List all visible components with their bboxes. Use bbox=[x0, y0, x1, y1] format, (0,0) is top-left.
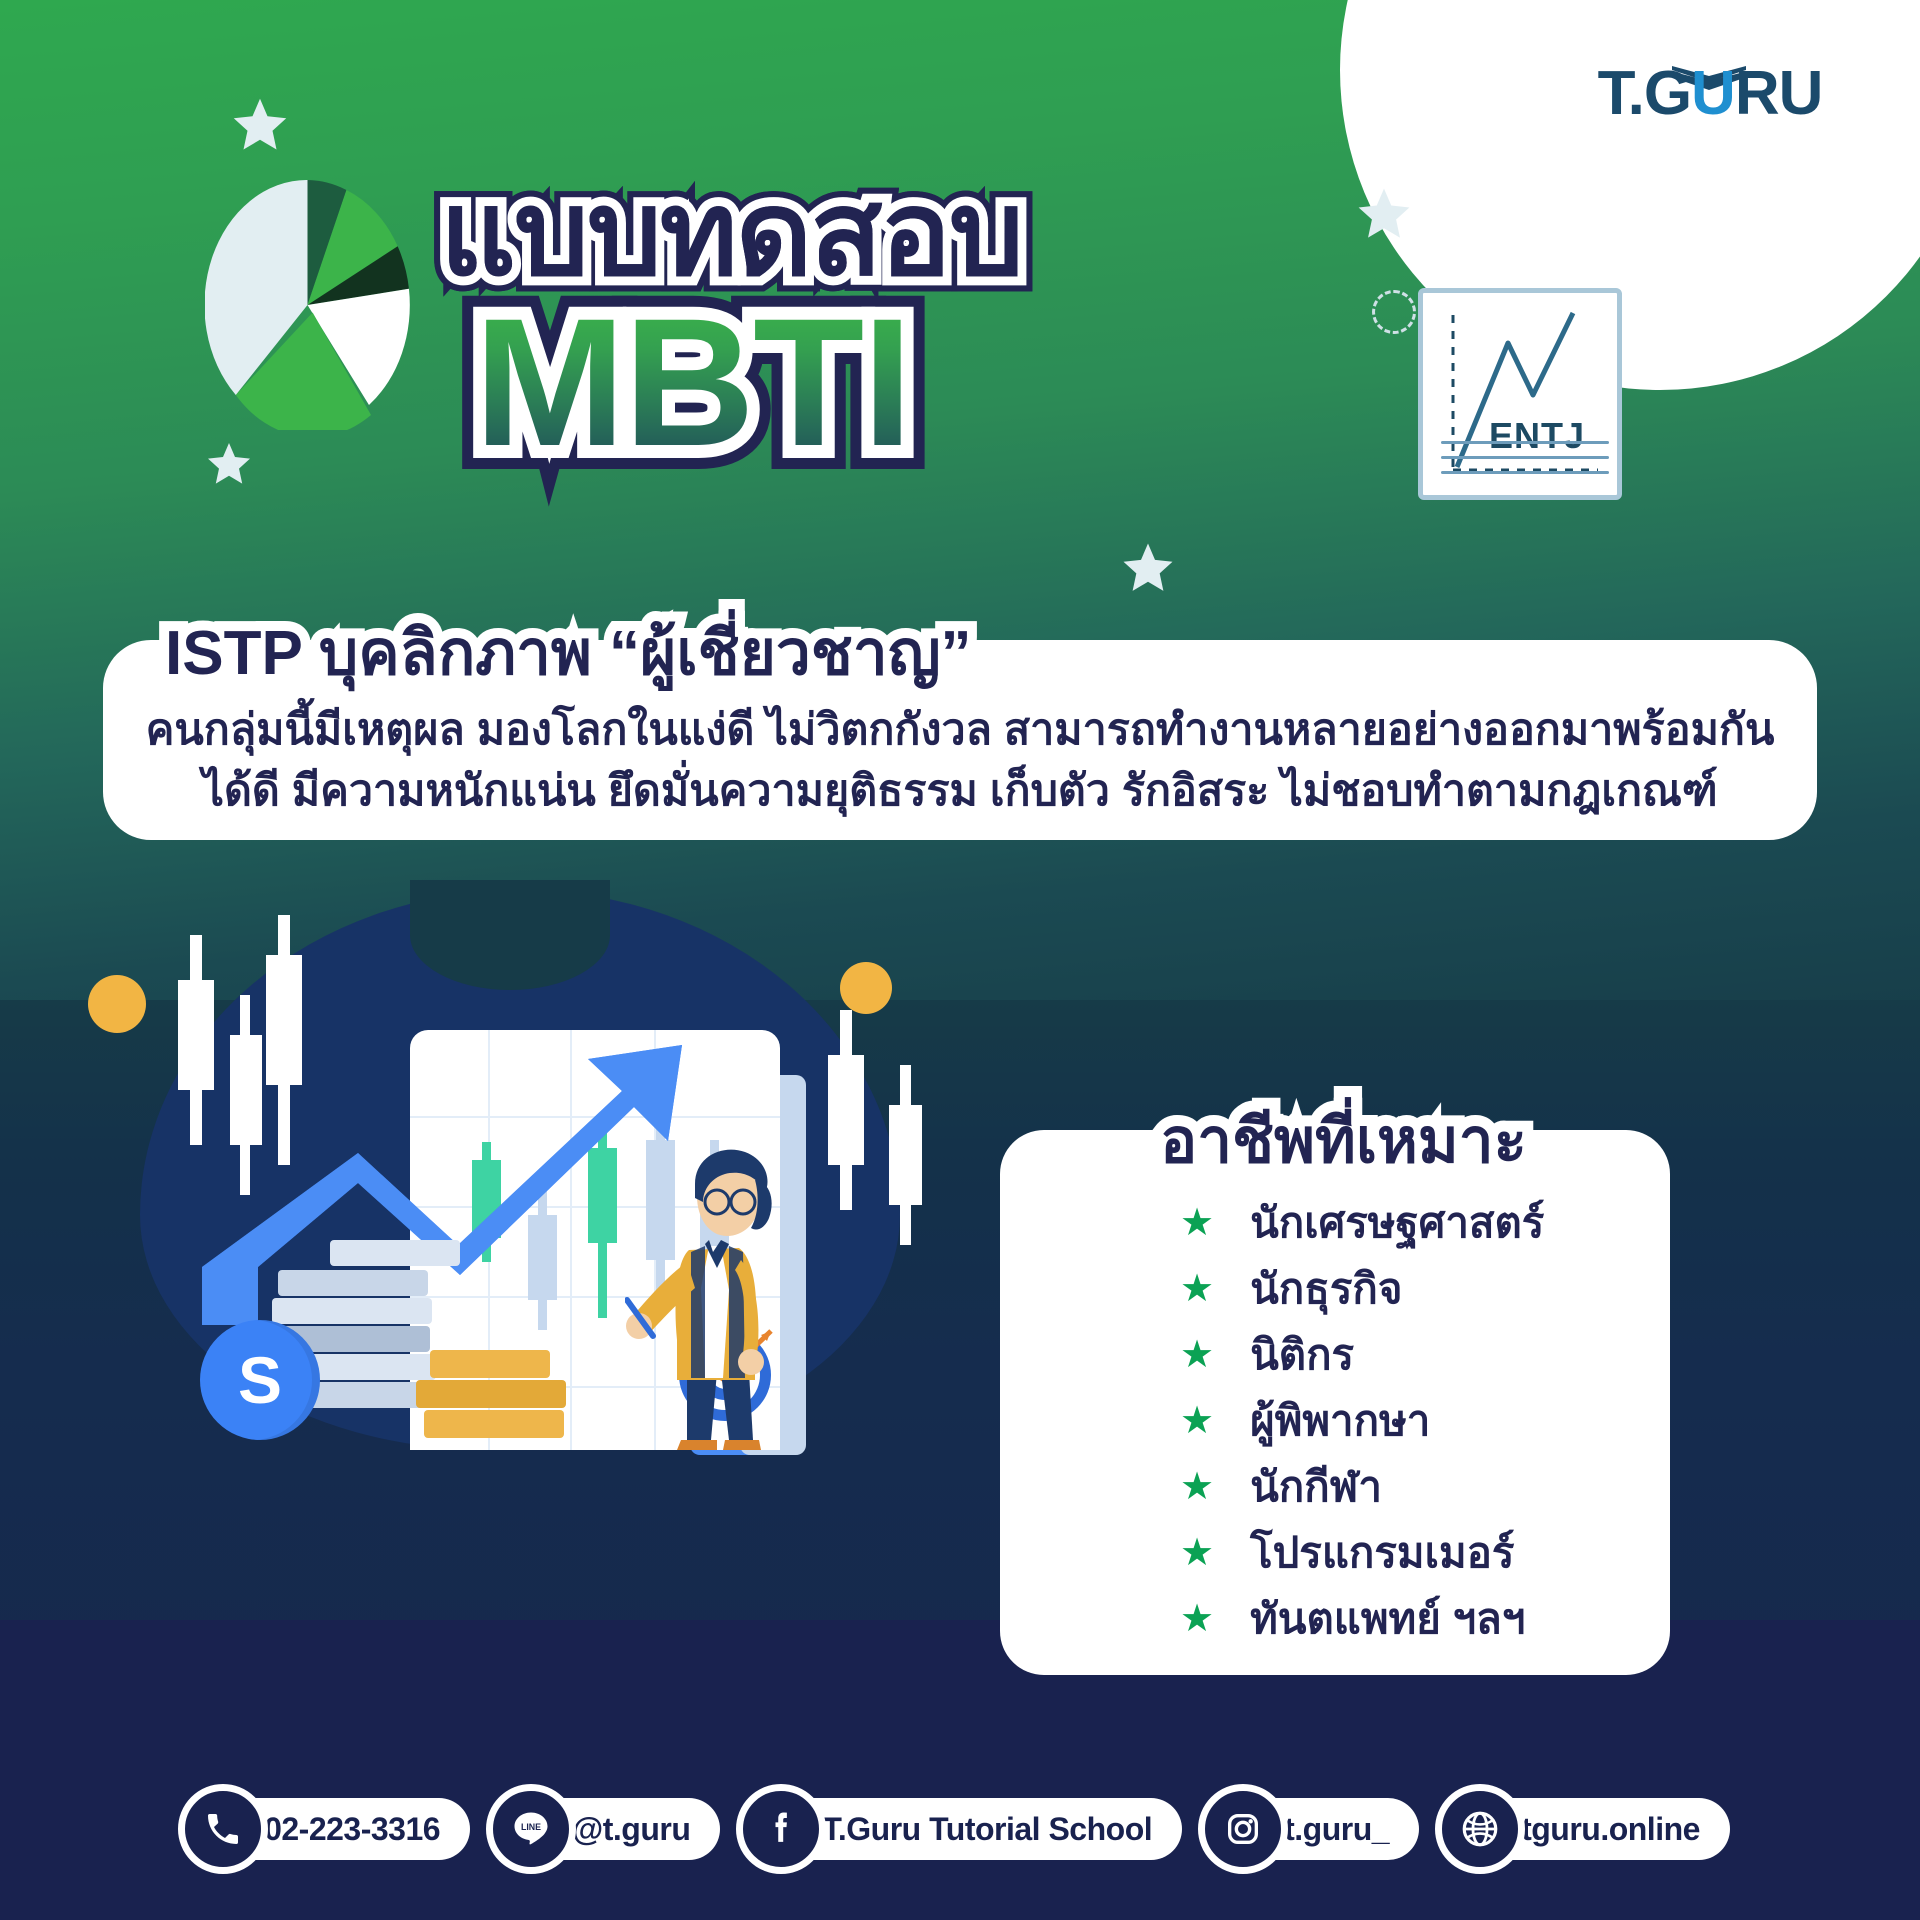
page-title: แบบทดสอบ แบบทดสอบ แบบทดสอบ MBTI MBTI MBT… bbox=[440, 175, 1160, 466]
contact-website-text: tguru.online bbox=[1521, 1811, 1700, 1848]
pie-chart-decoration bbox=[205, 180, 410, 430]
poster-canvas: T.GURU แบบทดสอบ แบบทดสอบ แบบทดสอบ MBTI M… bbox=[0, 0, 1920, 1920]
blob-notch bbox=[410, 880, 610, 990]
business-illustration: S bbox=[80, 880, 960, 1500]
star-icon: ★ bbox=[1180, 1468, 1214, 1506]
list-item: ★ นักกีฬา bbox=[1180, 1454, 1650, 1520]
contact-phone[interactable]: 02-223-3316 bbox=[190, 1798, 470, 1860]
contact-line[interactable]: LINE @t.guru bbox=[498, 1798, 720, 1860]
contact-line-text: @t.guru bbox=[572, 1811, 690, 1848]
career-label: ทันตแพทย์ ฯลฯ bbox=[1250, 1586, 1525, 1652]
title-thai-wrap: แบบทดสอบ แบบทดสอบ แบบทดสอบ bbox=[440, 175, 1022, 293]
title-thai-text: แบบทดสอบ bbox=[440, 175, 1022, 293]
candlestick-bg bbox=[828, 1055, 864, 1165]
description-line-1: คนกลุ่มนี้มีเหตุผล มองโลกในแง่ดี ไม่วิตก… bbox=[140, 700, 1780, 761]
description-body: คนกลุ่มนี้มีเหตุผล มองโลกในแง่ดี ไม่วิตก… bbox=[140, 700, 1780, 822]
entj-result-card: ENTJ bbox=[1418, 288, 1622, 500]
title-mbti-wrap: MBTI MBTI MBTI bbox=[474, 299, 911, 466]
contact-website[interactable]: tguru.online bbox=[1447, 1798, 1730, 1860]
description-heading-wrap: ISTP บุคลิกภาพ “ผู้เชี่ยวชาญ” ISTP บุคลิ… bbox=[165, 604, 972, 702]
dashed-ring-decoration bbox=[1372, 290, 1416, 334]
career-label: โปรแกรมเมอร์ bbox=[1250, 1520, 1514, 1586]
star-icon: ★ bbox=[1180, 1204, 1214, 1242]
star-icon: ★ bbox=[1180, 1336, 1214, 1374]
star-icon: ★ bbox=[1180, 1534, 1214, 1572]
contact-facebook-text: T.Guru Tutorial School bbox=[822, 1811, 1152, 1848]
list-item: ★ นิติกร bbox=[1180, 1322, 1650, 1388]
phone-icon[interactable] bbox=[178, 1784, 268, 1874]
list-item: ★ ผู้พิพากษา bbox=[1180, 1388, 1650, 1454]
title-mbti-text: MBTI bbox=[474, 299, 911, 466]
star-icon: ★ bbox=[1180, 1402, 1214, 1440]
star-icon: ★ bbox=[1180, 1270, 1214, 1308]
star-icon: ★ bbox=[1180, 1600, 1214, 1638]
career-label: ผู้พิพากษา bbox=[1250, 1388, 1430, 1454]
contact-facebook[interactable]: T.Guru Tutorial School bbox=[748, 1798, 1182, 1860]
coin-stack-gold bbox=[410, 1350, 610, 1450]
coin-badge: S bbox=[200, 1320, 320, 1440]
svg-text:LINE: LINE bbox=[521, 1822, 541, 1832]
logo-part-2: U bbox=[1691, 59, 1735, 128]
footer-contact-bar: 02-223-3316 LINE @t.guru T.Guru Tutorial… bbox=[0, 1798, 1920, 1860]
presenter-person-illustration bbox=[625, 1140, 805, 1450]
description-heading: ISTP บุคลิกภาพ “ผู้เชี่ยวชาญ” bbox=[165, 604, 972, 702]
brand-logo-text: T.GURU bbox=[1598, 58, 1823, 129]
star-decoration bbox=[1120, 540, 1176, 596]
card-ruled-lines bbox=[1441, 441, 1609, 486]
careers-heading-wrap: อาชีพที่เหมาะ อาชีพที่เหมาะ bbox=[1160, 1092, 1527, 1190]
star-decoration bbox=[230, 95, 290, 155]
star-decoration bbox=[205, 440, 253, 488]
careers-heading: อาชีพที่เหมาะ bbox=[1160, 1092, 1527, 1190]
coin-label: S bbox=[238, 1342, 282, 1418]
careers-list: ★ นักเศรษฐศาสตร์ ★ นักธุรกิจ ★ นิติกร ★ … bbox=[1180, 1190, 1650, 1652]
list-item: ★ โปรแกรมเมอร์ bbox=[1180, 1520, 1650, 1586]
career-label: นักธุรกิจ bbox=[1250, 1256, 1402, 1322]
logo-part-1: T.G bbox=[1598, 59, 1691, 128]
star-decoration bbox=[1355, 185, 1413, 243]
description-line-2: ได้ดี มีความหนักแน่น ยึดมั่นความยุติธรรม… bbox=[140, 761, 1780, 822]
career-label: นักเศรษฐศาสตร์ bbox=[1250, 1190, 1544, 1256]
brand-logo[interactable]: T.GURU bbox=[1570, 38, 1850, 148]
list-item: ★ นักเศรษฐศาสตร์ bbox=[1180, 1190, 1650, 1256]
instagram-icon[interactable] bbox=[1198, 1784, 1288, 1874]
contact-instagram-text: t.guru_ bbox=[1284, 1811, 1389, 1848]
contact-instagram[interactable]: t.guru_ bbox=[1210, 1798, 1419, 1860]
candlestick-bg bbox=[889, 1105, 922, 1205]
logo-part-3: RU bbox=[1735, 59, 1823, 128]
facebook-icon[interactable] bbox=[736, 1784, 826, 1874]
line-icon[interactable]: LINE bbox=[486, 1784, 576, 1874]
career-label: นักกีฬา bbox=[1250, 1454, 1382, 1520]
contact-phone-text: 02-223-3316 bbox=[264, 1811, 440, 1848]
list-item: ★ นักธุรกิจ bbox=[1180, 1256, 1650, 1322]
career-label: นิติกร bbox=[1250, 1322, 1354, 1388]
list-item: ★ ทันตแพทย์ ฯลฯ bbox=[1180, 1586, 1650, 1652]
globe-icon[interactable] bbox=[1435, 1784, 1525, 1874]
